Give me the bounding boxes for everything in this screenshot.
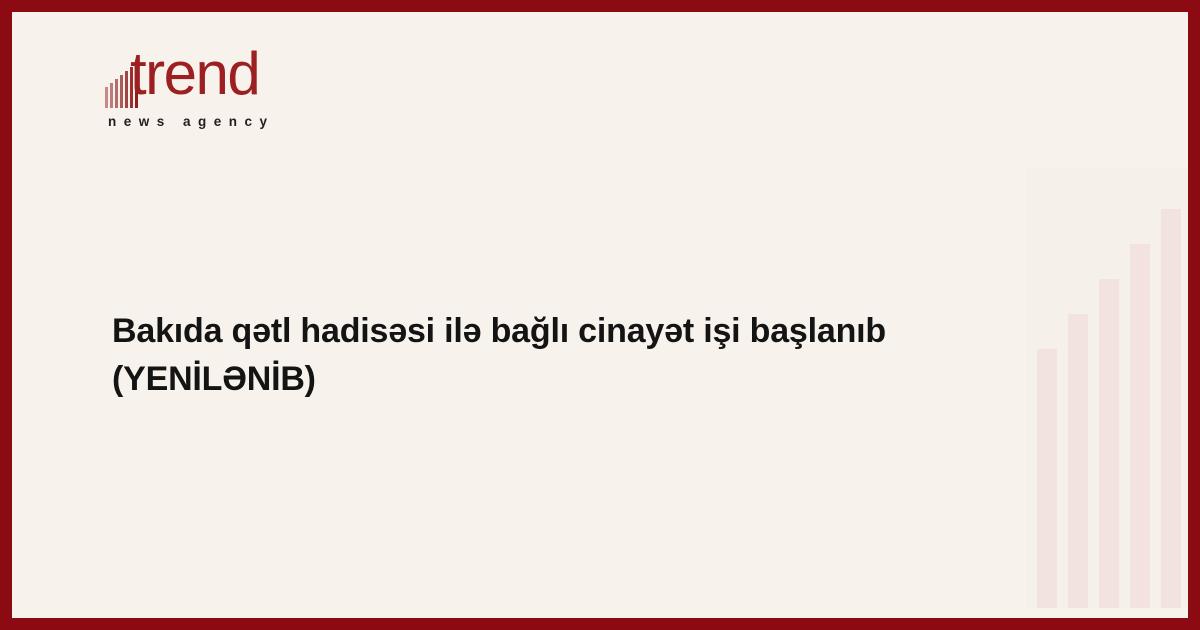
logo-mark-bar-slant [105,80,108,87]
watermark-bar [1037,327,1057,608]
logo-mark-bar-slant [120,68,123,75]
watermark-bar [1099,257,1119,608]
logo-mark-bar-slant [125,64,128,71]
watermark-bar [1068,292,1088,608]
watermark-bar-slant [1037,327,1057,349]
logo-mark-bar [115,72,118,108]
headline: Bakıda qətl hadisəsi ilə bağlı cinayət i… [112,307,1002,404]
logo-mark-bar [105,80,108,108]
logo-tagline: news agency [108,114,275,129]
logo-mark-bar [110,76,113,108]
watermark-bar-slant [1068,292,1088,314]
logo-mark-bar-slant [115,72,118,79]
watermark-bar [1161,187,1181,608]
logo-mark-bar [125,64,128,108]
watermark-bar-slant [1130,222,1150,244]
social-share-card: trend news agency Bakıda qətl hadisəsi i… [0,0,1200,630]
logo-mark-bar-slant [110,76,113,83]
watermark-bar [1130,222,1150,608]
watermark-bar-slant [1099,257,1119,279]
watermark-bar-slant [1161,187,1181,209]
trend-news-agency-logo[interactable]: trend news agency [100,52,400,142]
logo-wordmark: trend [130,44,259,104]
logo-mark-bar [120,68,123,108]
rising-bars-watermark [1027,168,1189,608]
